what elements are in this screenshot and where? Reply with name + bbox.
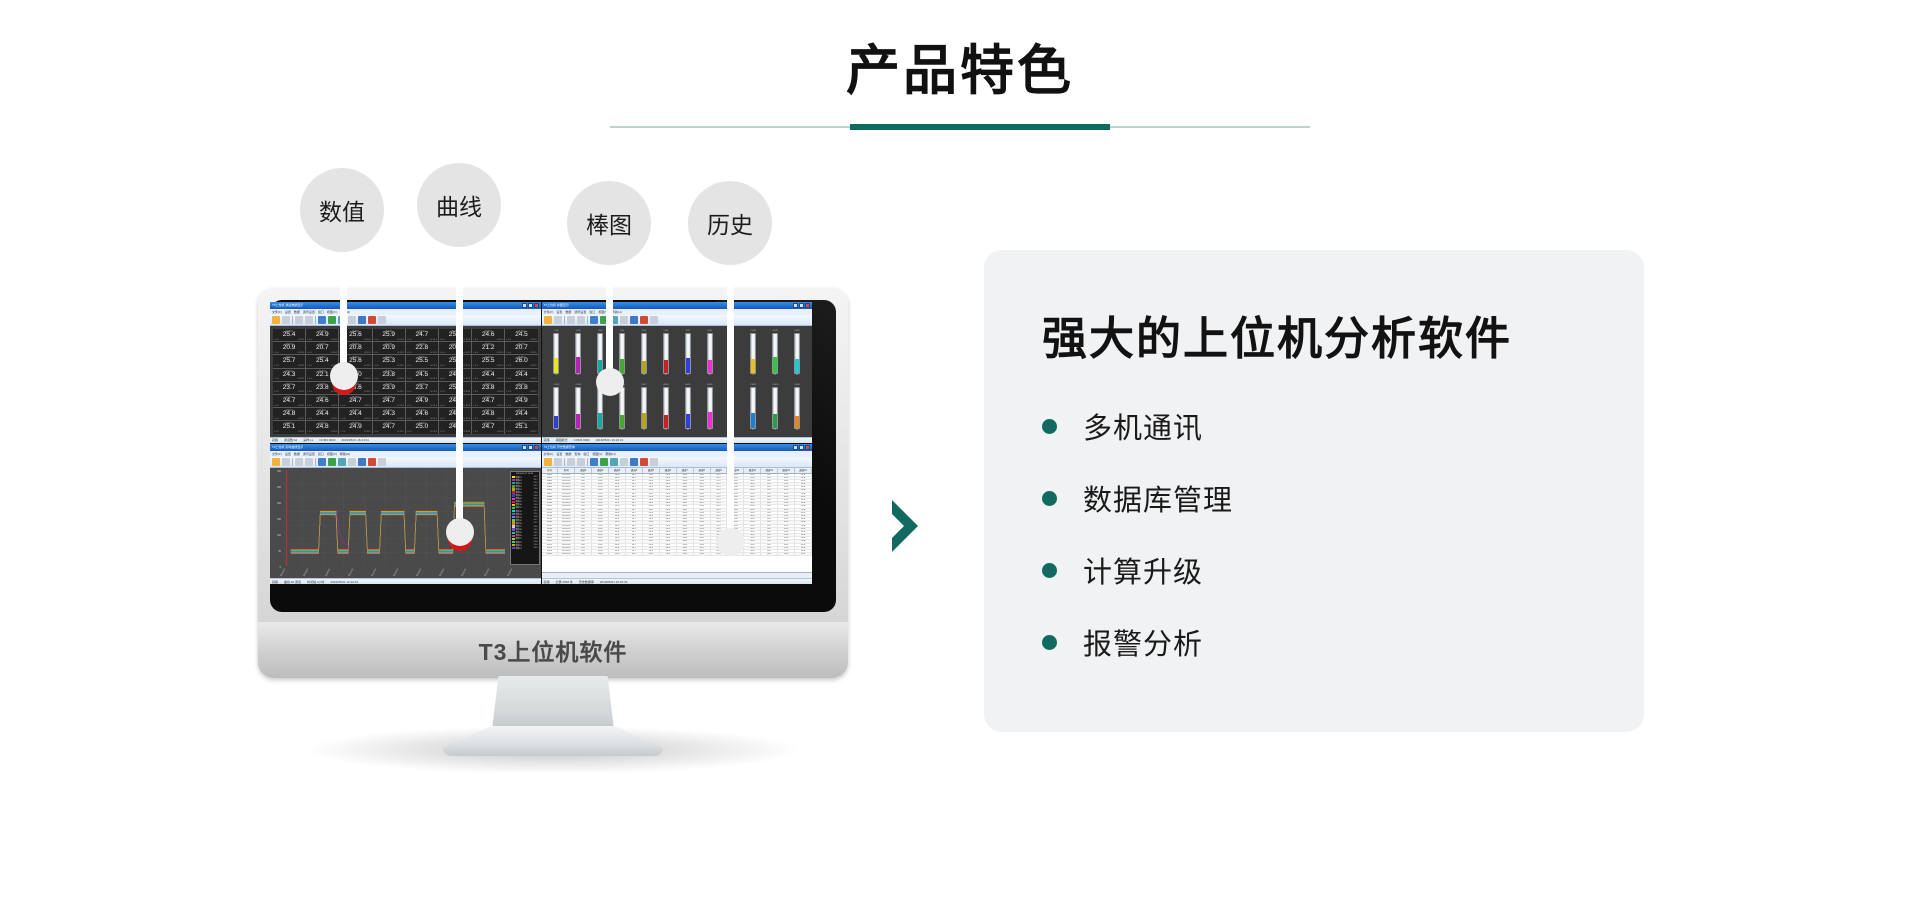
history-cell: 24.4 <box>694 525 711 527</box>
maximize-icon[interactable] <box>528 445 533 450</box>
history-cell: 24.6 <box>592 477 609 479</box>
numeric-cell[interactable]: 通道0121.2L 0.0H 99.9 <box>472 342 504 354</box>
window-title-text: T3上位机 棒图显示 <box>544 302 569 309</box>
bar-chart-icon[interactable] <box>640 316 648 324</box>
numeric-cell[interactable]: 通道0124.7L 0.0H 99.9 <box>373 395 405 407</box>
history-cell: 24.7 <box>761 502 778 504</box>
numeric-cell[interactable]: 通道0123.8L 0.0H 99.9 <box>505 382 537 394</box>
legend-series-value: 24.8 <box>534 504 538 506</box>
history-column-header[interactable]: 通道4 <box>626 468 643 473</box>
open-folder-icon[interactable] <box>544 316 552 324</box>
open-folder-icon[interactable] <box>272 316 280 324</box>
database-icon[interactable] <box>358 316 366 324</box>
print-icon[interactable] <box>567 458 575 466</box>
numeric-cell[interactable]: 通道0124.7L 0.0H 99.9 <box>472 421 504 433</box>
help-icon[interactable] <box>378 316 386 324</box>
history-cell: 24.6 <box>660 550 677 552</box>
numeric-cell-limits: L 0.0H 99.9 <box>307 391 337 393</box>
bargraph-unit[interactable]: CH1831 <box>656 384 676 431</box>
history-column-header[interactable]: 通道2 <box>592 468 609 473</box>
bargraph-value: 37 <box>752 429 754 432</box>
history-column-header[interactable]: 通道7 <box>677 468 694 473</box>
history-cell: 25.0 <box>643 480 660 482</box>
history-cell: 25.0 <box>643 499 660 501</box>
history-cell: 25.1 <box>711 525 728 527</box>
numeric-cell-limits: L 0.0H 99.9 <box>307 418 337 420</box>
numeric-cell[interactable]: 通道0124.8L 0.0H 99.9 <box>472 408 504 420</box>
help-icon[interactable] <box>650 316 658 324</box>
monitor-chin: T3上位机软件 <box>258 622 848 678</box>
history-column-header[interactable]: 序号 <box>542 468 559 473</box>
history-cell: 25.0 <box>778 531 795 533</box>
table-view-icon[interactable] <box>590 458 598 466</box>
callout-bargraph[interactable]: 棒图 <box>567 181 651 265</box>
callout-history[interactable]: 历史 <box>688 181 772 265</box>
save-icon[interactable] <box>282 458 290 466</box>
maximize-icon[interactable] <box>799 445 804 450</box>
history-cell: 24.7 <box>626 480 643 482</box>
numeric-cell[interactable]: 通道0124.5L 0.0H 99.9 <box>406 369 438 381</box>
numeric-grid: 通道0125.4L 0.0H 99.9通道0124.9L 0.0H 99.9通道… <box>273 329 538 434</box>
legend-color-swatch <box>512 525 515 527</box>
limit-high: H 99.9 <box>397 365 403 367</box>
database-icon[interactable] <box>630 458 638 466</box>
limit-high: H 99.9 <box>364 339 370 341</box>
history-cell: 24.4 <box>694 537 711 539</box>
legend-series-value: 24.7 <box>534 479 538 481</box>
open-folder-icon[interactable] <box>544 458 552 466</box>
minimize-icon[interactable] <box>522 303 527 308</box>
history-cell: 24.8 <box>677 534 694 536</box>
history-cell: 16:24:31 <box>558 512 575 514</box>
limit-high: H 99.9 <box>530 365 536 367</box>
maximize-icon[interactable] <box>528 303 533 308</box>
limit-low: L 0.0 <box>473 365 478 367</box>
numeric-cell-limits: L 0.0H 99.9 <box>374 352 404 354</box>
history-cell: 16:24:31 <box>558 496 575 498</box>
bargraph-unit[interactable]: CH2039 <box>700 384 720 431</box>
callout-curve[interactable]: 曲线 <box>417 163 501 247</box>
close-icon[interactable] <box>805 303 810 308</box>
bar-chart-icon[interactable] <box>368 458 376 466</box>
table-view-icon[interactable] <box>318 316 326 324</box>
bullet-dot-icon <box>1042 419 1057 434</box>
numeric-cell-tag: 通道01 <box>373 409 405 412</box>
window-trend[interactable]: T3上位机 实时曲线显示 文件(F)设置数据通讯设置窗口视图(V)帮助(H) <box>270 444 541 585</box>
window-history[interactable]: T3上位机 历史数据查询 文件(F)设置数据查询窗口视图(V)帮助(H) <box>542 444 813 585</box>
numeric-cell[interactable]: 通道0124.6L 0.0H 99.9 <box>406 408 438 420</box>
trend-cursor-line[interactable] <box>286 470 287 567</box>
numeric-cell[interactable]: 通道0124.7L 0.0H 99.9 <box>406 329 438 341</box>
page-title: 产品特色 <box>0 26 1920 105</box>
bargraph-tube <box>575 333 581 374</box>
numeric-cell-limits: L 0.0H 99.9 <box>407 365 437 367</box>
window-statusbar: 就绪记录:2048 条历史数据库2019/05/21 16:24:31 <box>542 578 813 584</box>
bargraph-unit[interactable]: CH740 <box>678 330 698 377</box>
numeric-cell[interactable]: 通道0123.7L 0.0H 99.9 <box>406 382 438 394</box>
history-cell: 24.7 <box>575 531 592 533</box>
numeric-cell[interactable]: 通道0124.7L 0.0H 99.9 <box>273 395 305 407</box>
chart-icon[interactable] <box>610 458 618 466</box>
legend-row[interactable]: 通道2424.9 <box>511 547 539 550</box>
numeric-cell-limits: L 0.0H 99.9 <box>473 365 503 367</box>
history-cell: 24.9 <box>744 540 761 542</box>
numeric-cell[interactable]: 通道0125.3L 0.0H 99.9 <box>373 355 405 367</box>
close-icon[interactable] <box>534 303 539 308</box>
bargraph-unit[interactable]: CH1435 <box>568 384 588 431</box>
numeric-cell[interactable]: 通道0123.8L 0.0H 99.9 <box>472 382 504 394</box>
zoom-icon[interactable] <box>577 458 585 466</box>
numeric-cell[interactable]: 通道0124.4L 0.0H 99.9 <box>306 408 338 420</box>
limit-low: L 0.0 <box>307 339 312 341</box>
limit-low: L 0.0 <box>506 365 511 367</box>
window-toolbar[interactable] <box>270 315 541 326</box>
close-icon[interactable] <box>805 445 810 450</box>
numeric-cell[interactable]: 通道0124.7L 0.0H 99.9 <box>472 395 504 407</box>
minimize-icon[interactable] <box>522 445 527 450</box>
numeric-cell[interactable]: 通道0125.5L 0.0H 99.9 <box>406 355 438 367</box>
numeric-cell[interactable]: 通道0124.6L 0.0H 99.9 <box>472 329 504 341</box>
monitor-icon[interactable] <box>348 316 356 324</box>
toolbar-separator <box>315 316 316 324</box>
toolbar-separator <box>564 316 565 324</box>
numeric-cell[interactable]: 通道0125.7L 0.0H 99.9 <box>273 355 305 367</box>
numeric-cell[interactable]: 通道0124.6L 0.0H 99.9 <box>306 395 338 407</box>
start-icon[interactable] <box>600 458 608 466</box>
toolbar-separator <box>587 458 588 466</box>
numeric-cell[interactable]: 通道0123.8L 0.0H 99.9 <box>373 369 405 381</box>
window-toolbar[interactable] <box>270 457 541 468</box>
help-icon[interactable] <box>378 458 386 466</box>
numeric-cell-limits: L 0.0H 99.9 <box>506 418 536 420</box>
limit-low: L 0.0 <box>274 365 279 367</box>
history-cell: 16:24:31 <box>558 553 575 555</box>
zoom-icon[interactable] <box>577 316 585 324</box>
numeric-cell[interactable]: 通道0120.9L 0.0H 99.9 <box>373 342 405 354</box>
bargraph-unit[interactable]: CH242 <box>568 330 588 377</box>
bargraph-unit[interactable]: CH1330 <box>547 384 567 431</box>
history-cell: 24.8 <box>795 489 812 491</box>
limit-high: H 99.9 <box>331 418 337 420</box>
print-icon[interactable] <box>295 458 303 466</box>
window-buttons[interactable] <box>522 303 539 308</box>
history-cell: 24.8 <box>677 544 694 546</box>
limit-low: L 0.0 <box>407 431 412 433</box>
legend-series-value: 24.8 <box>534 495 538 497</box>
history-cell: 24.4 <box>694 528 711 530</box>
bargraph-fill <box>751 359 755 374</box>
bargraph-unit[interactable]: CH138 <box>547 330 567 377</box>
monitor-icon[interactable] <box>620 458 628 466</box>
history-cell: 24.7 <box>761 480 778 482</box>
history-column-header[interactable]: 时间 <box>558 468 575 473</box>
numeric-cell[interactable]: 通道0124.9L 0.0H 99.9 <box>505 395 537 407</box>
bar-chart-icon[interactable] <box>640 458 648 466</box>
history-cell: 0011 <box>542 505 559 507</box>
database-icon[interactable] <box>630 316 638 324</box>
window-toolbar[interactable] <box>542 315 813 326</box>
limit-low: L 0.0 <box>274 431 279 433</box>
limit-low: L 0.0 <box>407 365 412 367</box>
bullet-label: 报警分析 <box>1083 621 1203 663</box>
history-cell: 24.7 <box>575 528 592 530</box>
window-numeric[interactable]: T3上位机 通道数据显示 文件(F)设置数据通讯设置窗口视图(V)帮助(H) <box>270 302 541 443</box>
history-cell: 25.0 <box>643 525 660 527</box>
zoom-icon[interactable] <box>305 316 313 324</box>
history-cell: 24.8 <box>677 515 694 517</box>
trend-body: 300250200150100500 16:04:0016:06:0016:08… <box>270 468 541 579</box>
numeric-cell[interactable]: 通道0120.7L 0.0H 99.9 <box>505 342 537 354</box>
legend-series-value: 25.1 <box>534 522 538 524</box>
trend-x-axis: 16:04:0016:06:0016:08:0016:10:0016:12:00… <box>282 566 509 578</box>
legend-series-value: 24.9 <box>534 547 538 549</box>
numeric-cell[interactable]: 通道0123.9L 0.0H 99.9 <box>373 382 405 394</box>
bargraph-fill <box>664 415 668 427</box>
history-cell: 0008 <box>542 496 559 498</box>
limit-low: L 0.0 <box>473 431 478 433</box>
table-row[interactable]: 002616:24:3124.724.624.924.725.024.624.8… <box>542 553 813 556</box>
bargraph-unit[interactable]: CH633 <box>656 330 676 377</box>
history-cell: 24.7 <box>626 515 643 517</box>
bargraph-unit[interactable]: CH1736 <box>634 384 654 431</box>
chart-icon[interactable] <box>338 458 346 466</box>
history-cell: 16:24:31 <box>558 474 575 476</box>
numeric-cell-tag: 通道01 <box>306 422 338 425</box>
numeric-cell[interactable]: 通道0125.1L 0.0H 99.9 <box>273 421 305 433</box>
history-cell: 24.8 <box>795 486 812 488</box>
numeric-cell-limits: L 0.0H 99.9 <box>506 352 536 354</box>
bargraph-fill <box>773 357 777 373</box>
numeric-cell[interactable]: 通道0124.9L 0.0H 99.9 <box>406 395 438 407</box>
bargraph-unit[interactable]: CH1236 <box>787 330 807 377</box>
history-cell: 24.7 <box>761 509 778 511</box>
history-cell: 24.4 <box>694 486 711 488</box>
save-icon[interactable] <box>282 316 290 324</box>
numeric-cell[interactable]: 通道0125.1L 0.0H 99.9 <box>505 421 537 433</box>
callout-numeric[interactable]: 数值 <box>300 168 384 252</box>
history-cell: 24.7 <box>575 499 592 501</box>
numeric-cell[interactable]: 通道0124.9L 0.0H 99.9 <box>306 329 338 341</box>
numeric-cell[interactable]: 通道0124.8L 0.0H 99.9 <box>306 421 338 433</box>
history-table-body[interactable]: 序号时间通道1通道2通道3通道4通道5通道6通道7通道8通道9通道10通道11通… <box>542 468 813 579</box>
close-icon[interactable] <box>534 445 539 450</box>
history-cell: 24.7 <box>761 505 778 507</box>
print-icon[interactable] <box>295 316 303 324</box>
numeric-cell[interactable]: 通道0125.4L 0.0H 99.9 <box>273 329 305 341</box>
bargraph-unit[interactable]: CH2237 <box>743 384 763 431</box>
history-cell: 25.0 <box>778 493 795 495</box>
history-cell: 24.9 <box>744 547 761 549</box>
maximize-icon[interactable] <box>799 303 804 308</box>
bargraph-value: 38 <box>599 429 601 432</box>
history-cell: 24.9 <box>744 537 761 539</box>
table-view-icon[interactable] <box>318 458 326 466</box>
limit-low: L 0.0 <box>307 391 312 393</box>
numeric-cell-tag: 通道01 <box>273 330 305 333</box>
trend-x-tick: 16:14:00 <box>394 569 400 577</box>
history-cell: 24.7 <box>575 550 592 552</box>
legend-series-value: 24.7 <box>534 519 538 521</box>
limit-low: L 0.0 <box>307 352 312 354</box>
numeric-cell[interactable]: 通道0120.9L 0.0H 99.9 <box>273 342 305 354</box>
limit-low: L 0.0 <box>440 339 445 341</box>
history-cell: 24.9 <box>609 509 626 511</box>
window-buttons[interactable] <box>522 445 539 450</box>
history-cell: 24.7 <box>575 493 592 495</box>
numeric-cell[interactable]: 通道0125.0L 0.0H 99.9 <box>406 421 438 433</box>
history-cell: 24.7 <box>575 474 592 476</box>
numeric-cell[interactable]: 通道0124.4L 0.0H 99.9 <box>339 408 371 420</box>
numeric-cell[interactable]: 通道0124.5L 0.0H 99.9 <box>505 329 537 341</box>
history-column-header[interactable]: 通道5 <box>643 468 660 473</box>
status-text: 就绪 <box>272 579 278 585</box>
history-cell: 16:24:31 <box>558 518 575 520</box>
monitor-icon[interactable] <box>620 316 628 324</box>
history-column-header[interactable]: 通道6 <box>660 468 677 473</box>
history-column-header[interactable]: 通道8 <box>694 468 711 473</box>
history-cell: 24.6 <box>592 528 609 530</box>
bargraph-unit[interactable]: CH2430 <box>787 384 807 431</box>
chevron-right-icon <box>888 498 934 554</box>
history-cell: 24.6 <box>592 534 609 536</box>
history-cell: 25.0 <box>778 547 795 549</box>
legend-series-value: 24.8 <box>534 516 538 518</box>
bargraph-tube <box>663 387 669 428</box>
history-cell: 24.6 <box>660 483 677 485</box>
window-buttons[interactable] <box>793 445 810 450</box>
limit-high: H 99.9 <box>497 339 503 341</box>
limit-high: H 99.9 <box>530 378 536 380</box>
window-toolbar[interactable] <box>542 457 813 468</box>
history-cell: 24.8 <box>677 521 694 523</box>
bargraph-fill <box>795 359 799 373</box>
window-bargraph[interactable]: T3上位机 棒图显示 文件(F)设置数据通讯设置窗口视图(V)帮助(H) <box>542 302 813 443</box>
print-icon[interactable] <box>567 316 575 324</box>
numeric-cell-limits: L 0.0H 99.9 <box>274 352 304 354</box>
bargraph-value: 30 <box>643 374 645 377</box>
bargraph-unit[interactable]: CH2335 <box>765 384 785 431</box>
numeric-cell[interactable]: 通道0124.8L 0.0H 99.9 <box>273 408 305 420</box>
history-cell: 0019 <box>542 531 559 533</box>
history-cell: 25.0 <box>778 512 795 514</box>
history-cell: 24.7 <box>626 553 643 555</box>
numeric-cell[interactable]: 通道0124.4L 0.0H 99.9 <box>505 369 537 381</box>
bargraph-fill <box>686 358 690 374</box>
zoom-icon[interactable] <box>305 458 313 466</box>
history-cell: 25.0 <box>778 499 795 501</box>
limit-high: H 99.9 <box>464 365 470 367</box>
history-cell: 24.9 <box>744 525 761 527</box>
numeric-cell-limits: L 0.0H 99.9 <box>506 378 536 380</box>
numeric-cell[interactable]: 通道0124.4L 0.0H 99.9 <box>505 408 537 420</box>
history-column-header[interactable]: 通道13 <box>778 468 795 473</box>
history-cell: 25.1 <box>711 486 728 488</box>
callout-curve-label: 曲线 <box>436 188 482 222</box>
numeric-cell[interactable]: 通道0125.5L 0.0H 99.9 <box>472 355 504 367</box>
history-cell: 24.6 <box>660 528 677 530</box>
open-folder-icon[interactable] <box>272 458 280 466</box>
limit-high: H 99.9 <box>364 405 370 407</box>
save-icon[interactable] <box>554 458 562 466</box>
history-column-header[interactable]: 通道3 <box>609 468 626 473</box>
limit-low: L 0.0 <box>274 352 279 354</box>
history-cell: 24.7 <box>575 477 592 479</box>
numeric-cell-tag: 通道01 <box>406 422 438 425</box>
bargraph-unit[interactable]: CH530 <box>634 330 654 377</box>
start-icon[interactable] <box>328 458 336 466</box>
history-cell: 24.9 <box>744 483 761 485</box>
history-cell: 24.9 <box>609 515 626 517</box>
start-icon[interactable] <box>328 316 336 324</box>
history-cell: 24.7 <box>761 528 778 530</box>
numeric-cell[interactable]: 通道0124.7L 0.0H 99.9 <box>339 395 371 407</box>
bargraph-unit[interactable]: CH835 <box>700 330 720 377</box>
history-cell: 24.6 <box>660 518 677 520</box>
history-column-header[interactable]: 通道12 <box>761 468 778 473</box>
save-icon[interactable] <box>554 316 562 324</box>
limit-high: H 99.9 <box>364 431 370 433</box>
history-column-header[interactable]: 通道11 <box>744 468 761 473</box>
numeric-cell[interactable]: 通道0123.7L 0.0H 99.9 <box>273 382 305 394</box>
numeric-cell[interactable]: 通道0122.8L 0.0H 99.9 <box>406 342 438 354</box>
history-column-header[interactable]: 通道14 <box>795 468 812 473</box>
history-cell: 25.0 <box>643 505 660 507</box>
history-cell: 24.6 <box>592 518 609 520</box>
history-cell: 25.0 <box>643 515 660 517</box>
table-view-icon[interactable] <box>590 316 598 324</box>
toolbar-separator <box>587 316 588 324</box>
numeric-cell-limits: L 0.0H 99.9 <box>274 418 304 420</box>
numeric-cell-tag: 通道01 <box>373 356 405 359</box>
history-cell: 25.0 <box>643 493 660 495</box>
window-buttons[interactable] <box>793 303 810 308</box>
numeric-cell[interactable]: 通道0124.9L 0.0H 99.9 <box>339 421 371 433</box>
bargraph-unit[interactable]: CH1934 <box>678 384 698 431</box>
numeric-cell[interactable]: 通道0125.9L 0.0H 99.9 <box>373 329 405 341</box>
history-cell: 25.0 <box>643 509 660 511</box>
history-column-header[interactable]: 通道9 <box>711 468 728 473</box>
bar-chart-icon[interactable] <box>368 316 376 324</box>
numeric-cell[interactable]: 通道0124.3L 0.0H 99.9 <box>273 369 305 381</box>
numeric-cell[interactable]: 通道0120.7L 0.0H 99.9 <box>306 342 338 354</box>
limit-high: H 99.9 <box>497 418 503 420</box>
help-icon[interactable] <box>650 458 658 466</box>
numeric-cell[interactable]: 通道0124.7L 0.0H 99.9 <box>373 421 405 433</box>
history-cell: 16:24:31 <box>558 515 575 517</box>
minimize-icon[interactable] <box>793 303 798 308</box>
monitor-icon[interactable] <box>348 458 356 466</box>
numeric-cell[interactable]: 通道0124.4L 0.0H 99.9 <box>472 369 504 381</box>
bargraph-unit[interactable]: CH1141 <box>765 330 785 377</box>
history-cell: 0005 <box>542 486 559 488</box>
numeric-cell[interactable]: 通道0124.3L 0.0H 99.9 <box>373 408 405 420</box>
numeric-cell[interactable]: 通道0126.0L 0.0H 99.9 <box>505 355 537 367</box>
legend-color-swatch <box>512 519 515 521</box>
history-cell: 24.7 <box>761 525 778 527</box>
bargraph-value: 34 <box>686 429 688 432</box>
limit-high: H 99.9 <box>364 418 370 420</box>
trend-legend[interactable]: 2019-05-21 16:24 通道0124.7通道0224.7通道0324.… <box>510 471 540 566</box>
limit-high: H 99.9 <box>497 391 503 393</box>
bargraph-unit[interactable]: CH1037 <box>743 330 763 377</box>
history-column-header[interactable]: 通道1 <box>575 468 592 473</box>
legend-series-name: 通道24 <box>516 547 522 550</box>
history-cell: 24.7 <box>761 550 778 552</box>
bullet-label: 计算升级 <box>1083 549 1203 591</box>
bargraph-fill <box>642 413 646 427</box>
minimize-icon[interactable] <box>793 445 798 450</box>
database-icon[interactable] <box>358 458 366 466</box>
